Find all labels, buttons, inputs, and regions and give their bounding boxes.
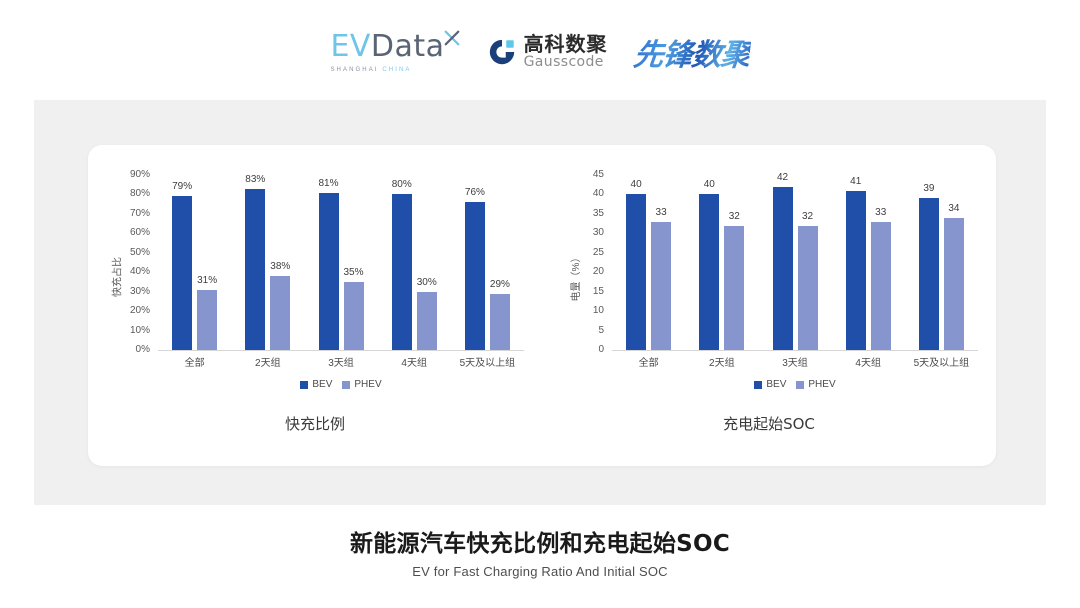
bar-group: 76%29% <box>451 175 524 350</box>
legend-swatch-icon <box>754 381 762 389</box>
bar-rect <box>699 194 719 350</box>
legend-item-phev[interactable]: PHEV <box>342 379 381 390</box>
gausscode-text-column: 高科数聚 Gausscode <box>524 34 608 70</box>
y-tick-left: 90% <box>130 170 150 180</box>
bar-phev[interactable]: 29% <box>490 175 510 350</box>
bar-rect <box>651 222 671 350</box>
bar-value-label: 81% <box>318 179 338 189</box>
bar-groups-left: 79%31%83%38%81%35%80%30%76%29% <box>158 175 524 350</box>
legend-item-bev[interactable]: BEV <box>754 379 786 390</box>
bar-rect <box>724 226 744 350</box>
y-tick-right: 30 <box>593 228 604 238</box>
bar-rect <box>846 191 866 350</box>
bar-rect <box>626 194 646 350</box>
evdata-tagline-country: CHINA <box>382 67 411 73</box>
bar-rect <box>392 194 412 350</box>
chart-title-left: 快充比例 <box>88 413 542 434</box>
bar-group: 80%30% <box>378 175 451 350</box>
bar-rect <box>871 222 891 350</box>
bar-group: 4032 <box>685 175 758 350</box>
bar-group: 4232 <box>758 175 831 350</box>
y-tick-left: 60% <box>130 228 150 238</box>
bar-bev[interactable]: 39 <box>919 175 939 350</box>
bar-bev[interactable]: 76% <box>465 175 485 350</box>
evdata-logo: EVData SHANGHAI CHINA <box>330 32 460 73</box>
bar-value-label: 34 <box>948 204 959 214</box>
bar-rect <box>417 292 437 350</box>
x-axis-label: 5天及以上组 <box>905 354 978 369</box>
y-tick-right: 15 <box>593 287 604 297</box>
legend-label: PHEV <box>354 379 381 390</box>
x-axis-label: 2天组 <box>231 354 304 369</box>
bar-value-label: 41 <box>850 177 861 187</box>
evdata-tagline-city: SHANGHAI <box>330 67 382 73</box>
bar-value-label: 80% <box>392 180 412 190</box>
x-axis-label: 全部 <box>612 354 685 369</box>
logo-bar: EVData SHANGHAI CHINA 高科数聚 Gausscode 先锋数… <box>0 22 1080 82</box>
bar-value-label: 39 <box>923 184 934 194</box>
y-tick-left: 20% <box>130 306 150 316</box>
bar-groups-right: 40334032423241333934 <box>612 175 978 350</box>
bar-rect <box>172 196 192 350</box>
y-tick-right: 10 <box>593 306 604 316</box>
x-axis-label: 2天组 <box>685 354 758 369</box>
bar-value-label: 40 <box>704 180 715 190</box>
chart-area-right: 电量（%） 051015202530354045 403340324232413… <box>542 157 996 397</box>
bar-bev[interactable]: 40 <box>626 175 646 350</box>
gausscode-en-name: Gausscode <box>524 55 604 70</box>
x-mark-icon <box>443 29 461 47</box>
charts-container: 快充占比 0%10%20%30%40%50%60%70%80%90% 79%31… <box>88 145 996 466</box>
legend-label: BEV <box>766 379 786 390</box>
evdata-tagline: SHANGHAI CHINA <box>330 67 411 73</box>
chart-initial-soc: 电量（%） 051015202530354045 403340324232413… <box>542 145 996 466</box>
evdata-data-text: Data <box>371 29 445 64</box>
bar-value-label: 31% <box>197 276 217 286</box>
bar-value-label: 79% <box>172 182 192 192</box>
bar-rect <box>773 187 793 350</box>
bar-phev[interactable]: 38% <box>270 175 290 350</box>
bar-group: 81%35% <box>304 175 377 350</box>
bar-group: 79%31% <box>158 175 231 350</box>
legend-item-phev[interactable]: PHEV <box>796 379 835 390</box>
bar-rect <box>270 276 290 350</box>
bar-value-label: 29% <box>490 280 510 290</box>
plot-area-left: 79%31%83%38%81%35%80%30%76%29% <box>158 175 524 351</box>
plot-area-right: 40334032423241333934 <box>612 175 978 351</box>
bar-phev[interactable]: 33 <box>651 175 671 350</box>
x-axis-label: 4天组 <box>378 354 451 369</box>
bar-bev[interactable]: 42 <box>773 175 793 350</box>
bar-rect <box>465 202 485 350</box>
y-tick-left: 0% <box>136 345 150 355</box>
x-axis-label: 5天及以上组 <box>451 354 524 369</box>
bar-value-label: 33 <box>875 208 886 218</box>
y-tick-right: 20 <box>593 267 604 277</box>
bar-value-label: 42 <box>777 173 788 183</box>
xianfeng-logo: 先锋数聚 <box>631 30 752 74</box>
x-axis-labels-right: 全部2天组3天组4天组5天及以上组 <box>612 354 978 369</box>
legend-label: PHEV <box>808 379 835 390</box>
bar-phev[interactable]: 32 <box>724 175 744 350</box>
x-axis-label: 3天组 <box>304 354 377 369</box>
bar-value-label: 38% <box>270 262 290 272</box>
evdata-wordmark: EVData <box>330 32 444 62</box>
bar-value-label: 40 <box>631 180 642 190</box>
y-axis-ticks-left: 0%10%20%30%40%50%60%70%80%90% <box>114 175 154 350</box>
bar-group: 4033 <box>612 175 685 350</box>
y-tick-left: 50% <box>130 248 150 258</box>
bar-rect <box>798 226 818 350</box>
bar-value-label: 35% <box>343 268 363 278</box>
y-tick-left: 80% <box>130 189 150 199</box>
y-axis-ticks-right: 051015202530354045 <box>568 175 608 350</box>
bar-rect <box>245 189 265 350</box>
y-tick-left: 70% <box>130 209 150 219</box>
bar-group: 3934 <box>905 175 978 350</box>
bar-bev[interactable]: 81% <box>319 175 339 350</box>
legend-label: BEV <box>312 379 332 390</box>
chart-title-right: 充电起始SOC <box>542 413 996 434</box>
y-tick-right: 5 <box>598 326 604 336</box>
x-axis-label: 3天组 <box>758 354 831 369</box>
g-circle-icon <box>487 37 517 67</box>
bar-value-label: 33 <box>656 208 667 218</box>
gausscode-logo: 高科数聚 Gausscode <box>487 34 608 70</box>
bar-group: 4133 <box>832 175 905 350</box>
legend-right: BEVPHEV <box>612 379 978 390</box>
y-tick-right: 35 <box>593 209 604 219</box>
bar-rect <box>319 193 339 351</box>
page-title: 新能源汽车快充比例和充电起始SOC <box>0 530 1080 559</box>
bar-phev[interactable]: 33 <box>871 175 891 350</box>
bar-bev[interactable]: 83% <box>245 175 265 350</box>
bar-value-label: 83% <box>245 175 265 185</box>
y-tick-right: 25 <box>593 248 604 258</box>
y-tick-right: 40 <box>593 189 604 199</box>
gausscode-cn-name: 高科数聚 <box>524 34 608 55</box>
y-tick-left: 10% <box>130 326 150 336</box>
legend-swatch-icon <box>796 381 804 389</box>
bar-value-label: 76% <box>465 188 485 198</box>
bar-phev[interactable]: 34 <box>944 175 964 350</box>
y-tick-left: 30% <box>130 287 150 297</box>
bar-rect <box>944 218 964 350</box>
bar-value-label: 30% <box>417 278 437 288</box>
bar-rect <box>344 282 364 350</box>
x-axis-labels-left: 全部2天组3天组4天组5天及以上组 <box>158 354 524 369</box>
chart-fast-charging-ratio: 快充占比 0%10%20%30%40%50%60%70%80%90% 79%31… <box>88 145 542 466</box>
legend-swatch-icon <box>300 381 308 389</box>
y-tick-right: 0 <box>598 345 604 355</box>
bar-bev[interactable]: 40 <box>699 175 719 350</box>
chart-area-left: 快充占比 0%10%20%30%40%50%60%70%80%90% 79%31… <box>88 157 542 397</box>
page-subtitle: EV for Fast Charging Ratio And Initial S… <box>0 564 1080 579</box>
legend-item-bev[interactable]: BEV <box>300 379 332 390</box>
bar-group: 83%38% <box>231 175 304 350</box>
bar-bev[interactable]: 79% <box>172 175 192 350</box>
bar-phev[interactable]: 32 <box>798 175 818 350</box>
bar-value-label: 32 <box>729 212 740 222</box>
bar-bev[interactable]: 80% <box>392 175 412 350</box>
legend-left: BEVPHEV <box>158 379 524 390</box>
y-tick-left: 40% <box>130 267 150 277</box>
evdata-ev-text: EV <box>330 29 370 64</box>
bar-bev[interactable]: 41 <box>846 175 866 350</box>
x-axis-label: 4天组 <box>832 354 905 369</box>
bar-rect <box>197 290 217 350</box>
footer: 新能源汽车快充比例和充电起始SOC EV for Fast Charging R… <box>0 530 1080 579</box>
y-tick-right: 45 <box>593 170 604 180</box>
bar-phev[interactable]: 30% <box>417 175 437 350</box>
bar-rect <box>919 198 939 350</box>
bar-phev[interactable]: 31% <box>197 175 217 350</box>
bar-value-label: 32 <box>802 212 813 222</box>
legend-swatch-icon <box>342 381 350 389</box>
bar-phev[interactable]: 35% <box>344 175 364 350</box>
bar-rect <box>490 294 510 350</box>
x-axis-label: 全部 <box>158 354 231 369</box>
